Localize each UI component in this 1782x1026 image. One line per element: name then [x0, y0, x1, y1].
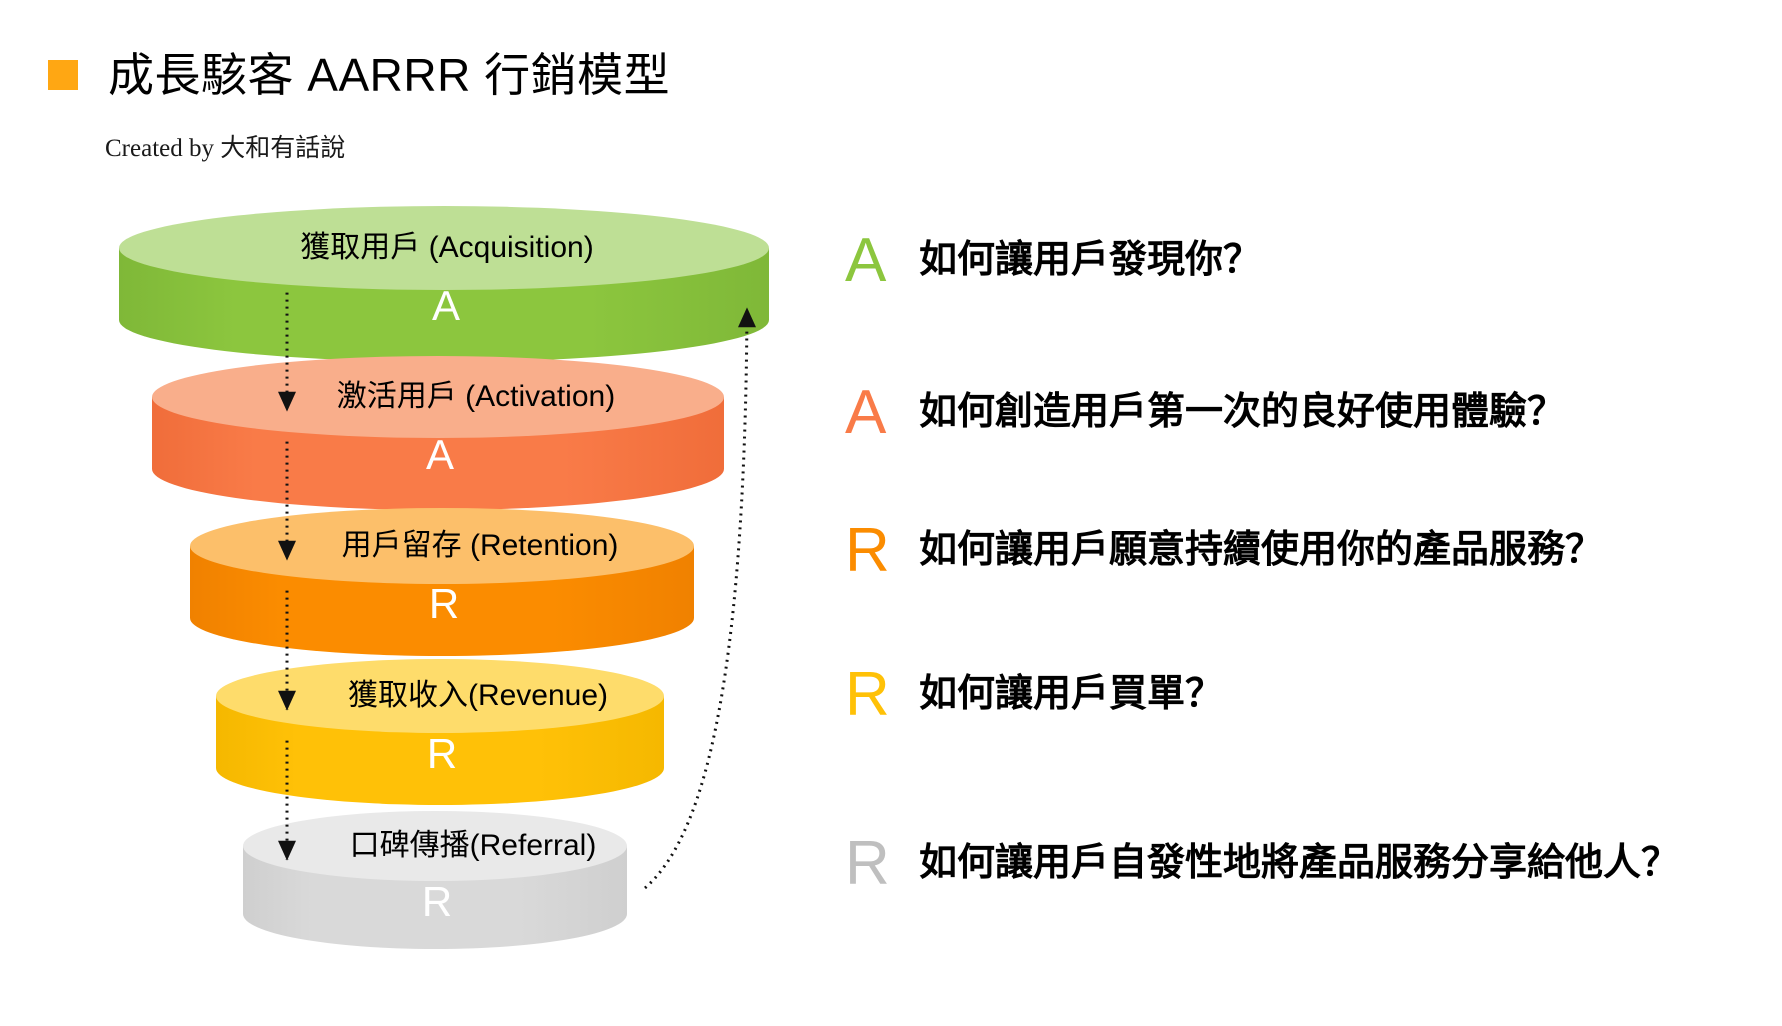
stage-letter-revenue: R [427, 733, 457, 775]
title-row: 成長駭客 AARRR 行銷模型 [48, 52, 670, 98]
legend-text-3: 如何讓用戶願意持續使用你的產品服務？ [919, 529, 1603, 573]
legend-letter-1: A [845, 230, 919, 292]
legend-row-4: R如何讓用戶買單？ [845, 659, 1223, 731]
stage-title-activation: 激活用戶 (Activation) [337, 382, 615, 412]
stage-title-revenue: 獲取收入(Revenue) [348, 681, 608, 711]
stage-letter-activation: A [426, 434, 454, 476]
stage-letter-acquisition: A [432, 285, 460, 327]
page-subtitle: Created by 大和有話說 [105, 136, 345, 161]
legend-letter-3: R [845, 520, 919, 582]
legend-text-2: 如何創造用戶第一次的良好使用體驗？ [919, 391, 1565, 435]
legend-letter-5: R [845, 833, 919, 895]
legend-row-2: A如何創造用戶第一次的良好使用體驗？ [845, 377, 1565, 449]
legend-letter-4: R [845, 664, 919, 726]
legend-text-5: 如何讓用戶自發性地將產品服務分享給他人？ [919, 842, 1679, 886]
legend-row-5: R如何讓用戶自發性地將產品服務分享給他人？ [845, 828, 1679, 900]
stage-title-acquisition: 獲取用戶 (Acquisition) [300, 233, 593, 263]
stage-title-retention: 用戶留存 (Retention) [342, 531, 619, 561]
legend-text-4: 如何讓用戶買單？ [919, 673, 1223, 717]
stage-letter-referral: R [422, 881, 452, 923]
stage-title-referral: 口碑傳播(Referral) [350, 831, 597, 861]
legend-letter-2: A [845, 382, 919, 444]
legend-row-1: A如何讓用戶發現你？ [845, 225, 1261, 297]
referral-loop-arrow [645, 308, 747, 888]
legend-row-3: R如何讓用戶願意持續使用你的產品服務？ [845, 515, 1603, 587]
legend-text-1: 如何讓用戶發現你？ [919, 239, 1261, 283]
stage-letter-retention: R [429, 583, 459, 625]
page-title: 成長駭客 AARRR 行銷模型 [108, 52, 670, 98]
square-bullet-icon [48, 60, 78, 90]
